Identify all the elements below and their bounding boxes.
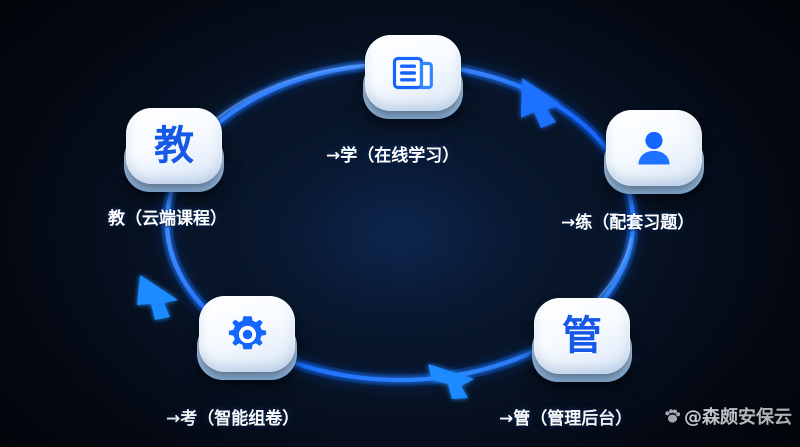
node-kao[interactable]	[193, 290, 301, 386]
node-guan[interactable]: 管	[528, 292, 636, 388]
node-face	[199, 296, 295, 372]
gear-settings-icon	[227, 314, 268, 355]
character-guan-glyph: 管	[562, 316, 602, 356]
caption-jiao: 教（云端课程）	[108, 204, 227, 229]
node-face	[606, 110, 702, 186]
character-jiao-glyph: 教	[154, 126, 194, 166]
flow-arrow-left	[137, 275, 178, 320]
node-lian[interactable]	[600, 104, 708, 200]
node-xue[interactable]	[359, 29, 467, 125]
panda-paw-logo	[664, 408, 681, 425]
flow-diagram-canvas: 教 教（云端课程） →学（在线学习）	[0, 0, 800, 447]
node-face	[365, 35, 461, 111]
node-face: 教	[126, 108, 222, 184]
caption-xue: →学（在线学习）	[326, 141, 459, 166]
node-face: 管	[534, 298, 630, 374]
watermark: @森颇安保云	[664, 403, 792, 429]
user-person-icon	[634, 129, 674, 167]
caption-lian: →练（配套习题）	[561, 208, 694, 233]
watermark-text: @森颇安保云	[684, 403, 792, 429]
flow-arrow-top-right	[521, 78, 560, 128]
caption-guan: →管（管理后台）	[499, 404, 632, 429]
caption-kao: →考（智能组卷）	[166, 404, 299, 429]
node-jiao[interactable]: 教	[120, 102, 228, 198]
document-list-icon	[392, 54, 434, 92]
